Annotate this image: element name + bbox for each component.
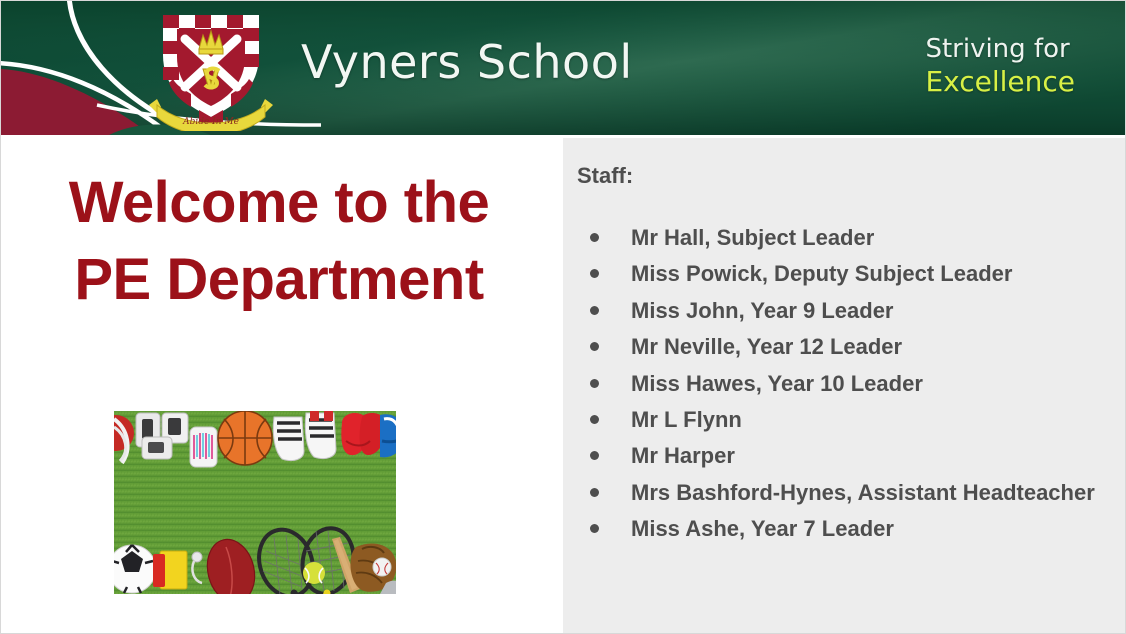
bullet-icon (590, 233, 599, 242)
staff-item-label: Miss John, Year 9 Leader (631, 298, 894, 323)
staff-item-label: Miss Powick, Deputy Subject Leader (631, 261, 1012, 286)
staff-item-label: Mr Hall, Subject Leader (631, 225, 874, 250)
bullet-icon (590, 306, 599, 315)
presentation-slide: Abide In Me Vyners School Striving for E… (0, 0, 1126, 634)
motto-line-striving-for: Striving for (925, 34, 1075, 65)
staff-panel: Staff: Mr Hall, Subject Leader Miss Powi… (563, 138, 1126, 634)
staff-item-label: Mr L Flynn (631, 407, 742, 432)
list-item: Miss Ashe, Year 7 Leader (563, 511, 1123, 547)
staff-item-label: Mr Neville, Year 12 Leader (631, 334, 902, 359)
bullet-icon (590, 379, 599, 388)
school-header-banner: Abide In Me Vyners School Striving for E… (1, 1, 1126, 135)
staff-list: Mr Hall, Subject Leader Miss Powick, Dep… (563, 220, 1123, 548)
left-content-panel: Welcome to the PE Department (1, 135, 563, 634)
list-item: Miss Powick, Deputy Subject Leader (563, 256, 1123, 292)
bullet-icon (590, 415, 599, 424)
staff-item-label: Mr Harper (631, 443, 735, 468)
crest-ribbon-text: Abide In Me (182, 117, 239, 127)
sports-equipment-photo (114, 411, 396, 594)
bullet-icon (590, 524, 599, 533)
list-item: Mr Hall, Subject Leader (563, 220, 1123, 256)
school-crest-logo: Abide In Me (147, 5, 275, 131)
school-motto: Striving for Excellence (925, 34, 1075, 98)
bullet-icon (590, 269, 599, 278)
crest-shield-icon: Abide In Me (147, 5, 275, 131)
list-item: Mr Harper (563, 438, 1123, 474)
staff-item-label: Miss Hawes, Year 10 Leader (631, 371, 923, 396)
bullet-icon (590, 342, 599, 351)
motto-line-excellence: Excellence (925, 65, 1075, 98)
school-name-title: Vyners School (301, 35, 633, 89)
title-block: Welcome to the PE Department (29, 164, 529, 318)
sports-equipment-illustration (114, 411, 396, 594)
staff-item-label: Mrs Bashford-Hynes, Assistant Headteache… (631, 480, 1095, 505)
list-item: Mrs Bashford-Hynes, Assistant Headteache… (563, 475, 1123, 511)
page-title: Welcome to the PE Department (29, 164, 529, 318)
list-item: Miss Hawes, Year 10 Leader (563, 366, 1123, 402)
list-item: Mr L Flynn (563, 402, 1123, 438)
bullet-icon (590, 488, 599, 497)
list-item: Mr Neville, Year 12 Leader (563, 329, 1123, 365)
list-item: Miss John, Year 9 Leader (563, 293, 1123, 329)
staff-heading: Staff: (577, 163, 633, 189)
bullet-icon (590, 451, 599, 460)
staff-item-label: Miss Ashe, Year 7 Leader (631, 516, 894, 541)
